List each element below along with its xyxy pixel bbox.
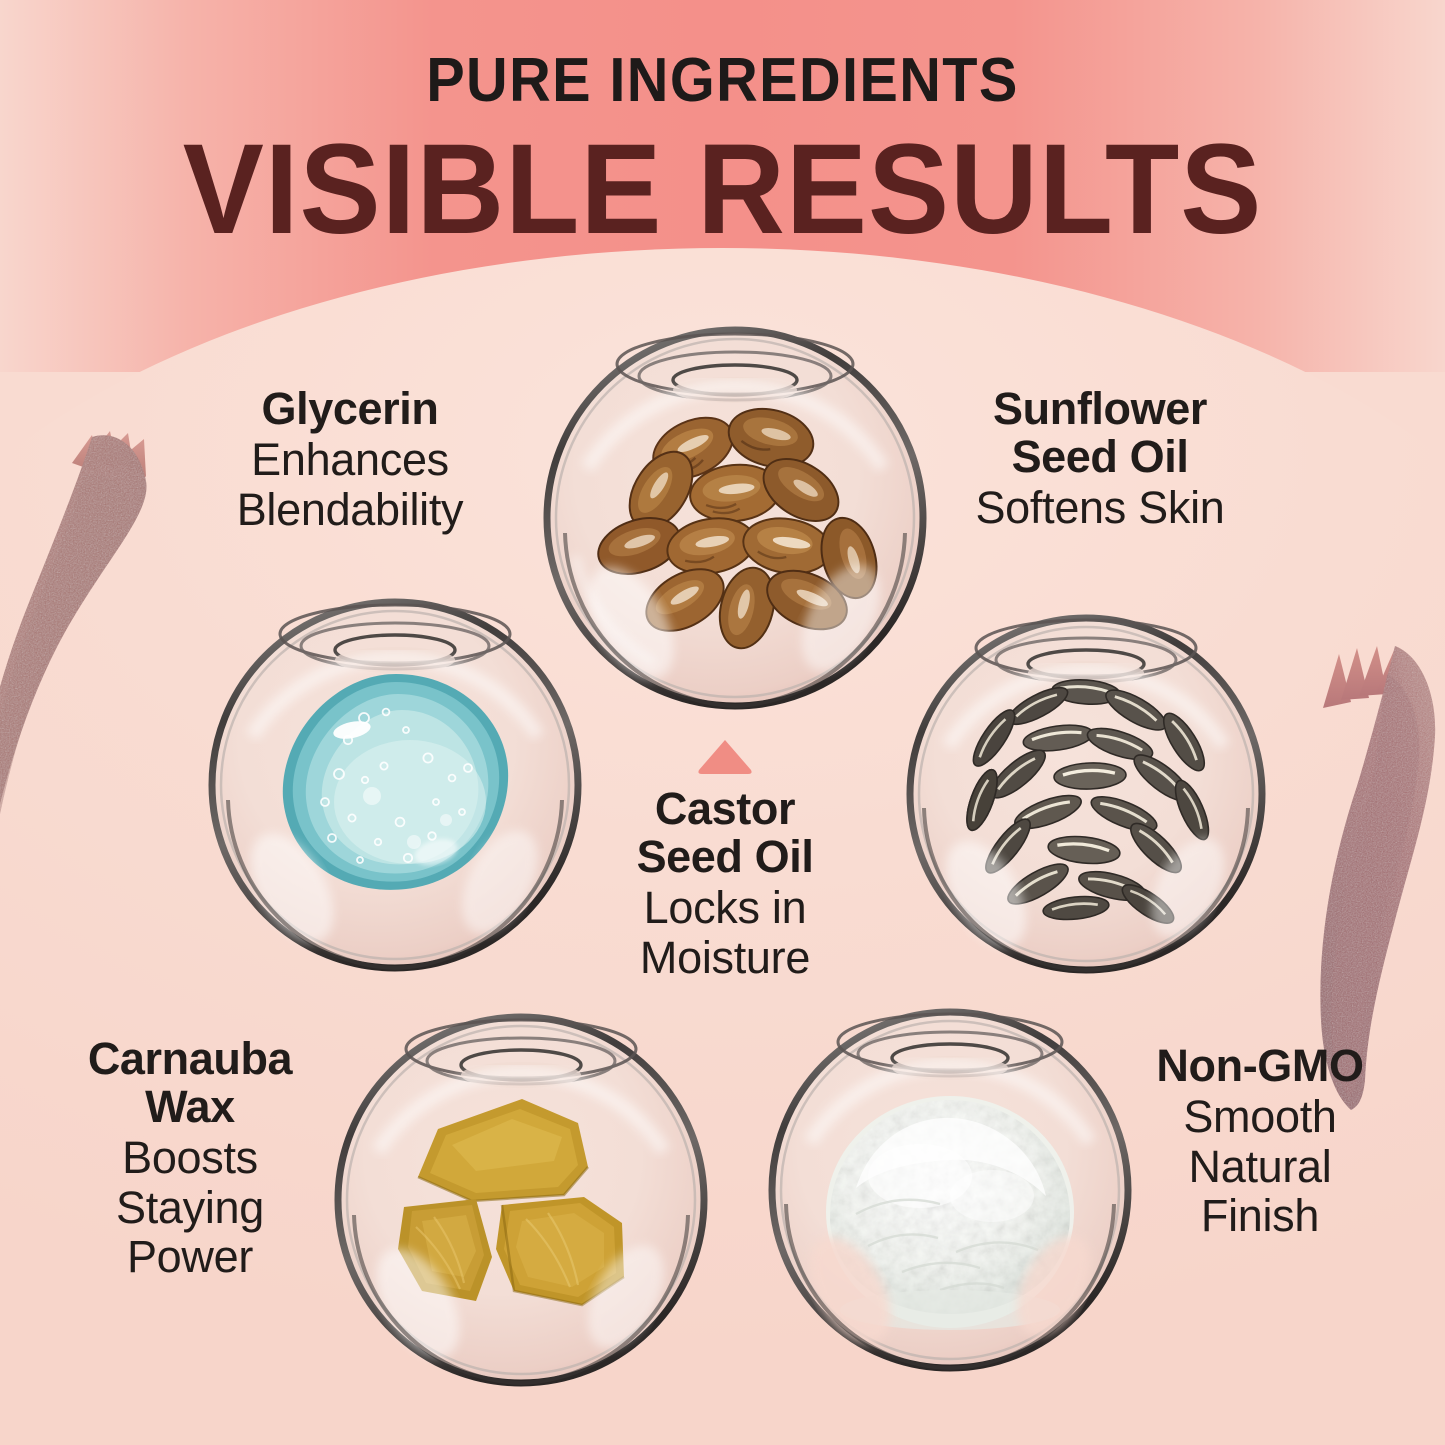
ingredient-desc-non-gmo: Smooth Natural Finish: [1110, 1092, 1410, 1241]
ingredient-name-non-gmo: Non-GMO: [1110, 1042, 1410, 1090]
ingredient-desc-glycerin: Enhances Blendability: [170, 435, 530, 534]
ingredient-name-carnauba-wax: Carnauba Wax: [35, 1035, 345, 1131]
ingredient-desc-sunflower-seed-oil: Softens Skin: [930, 483, 1270, 533]
label-glycerin: Glycerin Enhances Blendability: [170, 385, 530, 534]
page-title-line2: VISIBLE RESULTS: [36, 126, 1409, 254]
lipstick-swatch-right: [1255, 590, 1445, 1110]
label-non-gmo: Non-GMO Smooth Natural Finish: [1110, 1042, 1410, 1241]
ingredient-name-sunflower-seed-oil: Sunflower Seed Oil: [930, 385, 1270, 481]
label-carnauba-wax: Carnauba Wax Boosts Staying Power: [35, 1035, 345, 1282]
infographic-canvas: PURE INGREDIENTS VISIBLE RESULTS: [0, 0, 1445, 1445]
ingredient-desc-carnauba-wax: Boosts Staying Power: [35, 1133, 345, 1282]
page-title-line1: PURE INGREDIENTS: [51, 50, 1395, 112]
ingredient-name-castor-seed-oil: Castor Seed Oil: [575, 785, 875, 881]
label-sunflower-seed-oil: Sunflower Seed Oil Softens Skin: [930, 385, 1270, 533]
orb-glycerin: [200, 590, 590, 980]
triangle-up-pointer-icon: [697, 738, 753, 779]
label-castor-seed-oil: Castor Seed Oil Locks in Moisture: [575, 785, 875, 982]
heading-block: PURE INGREDIENTS VISIBLE RESULTS: [0, 0, 1445, 254]
ingredient-desc-castor-seed-oil: Locks in Moisture: [575, 883, 875, 982]
orb-carnauba-wax: [326, 1005, 716, 1395]
orb-sunflower-seed-oil: [898, 606, 1274, 982]
orb-non-gmo: [760, 1000, 1140, 1380]
orb-castor-seed-oil: [535, 318, 935, 718]
ingredient-name-glycerin: Glycerin: [170, 385, 530, 433]
